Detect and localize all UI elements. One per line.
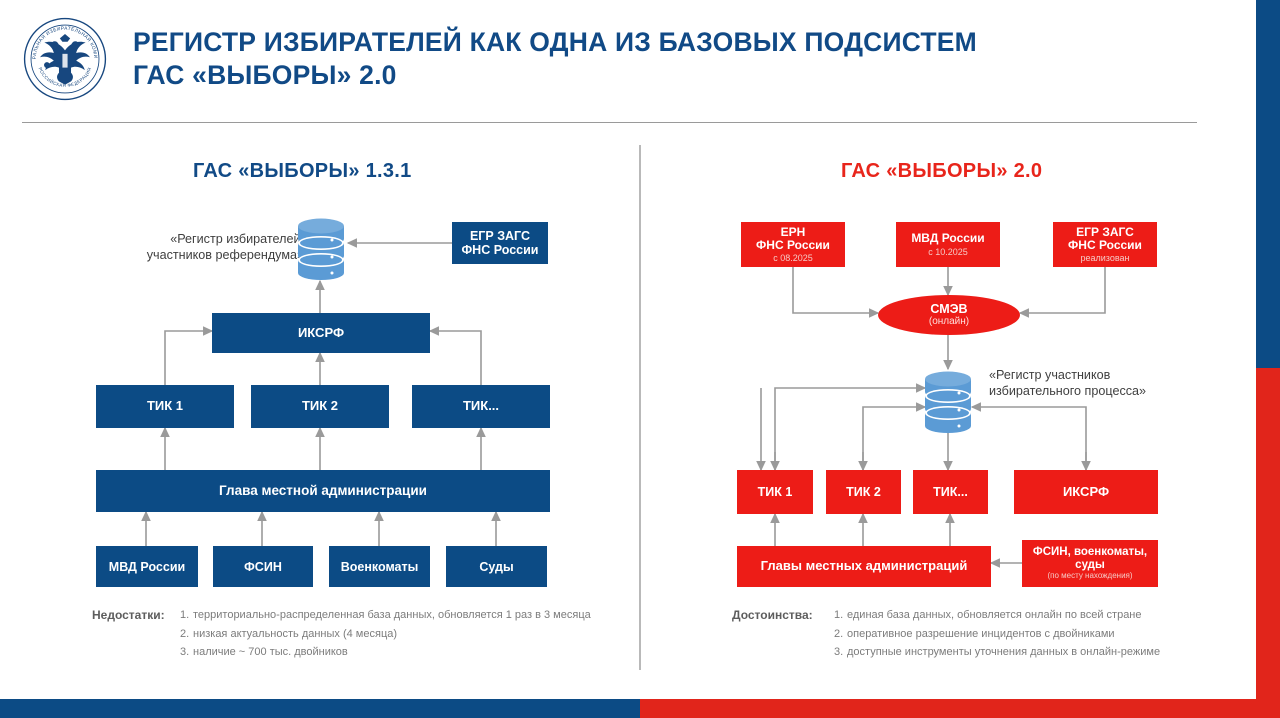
right-note-item: 1.единая база данных, обновляется онлайн… — [834, 606, 1202, 625]
left-node-tik1[interactable]: ТИК 1 — [96, 385, 234, 428]
header-divider — [22, 122, 1197, 123]
right-node-iksrf[interactable]: ИКСРФ — [1014, 470, 1158, 514]
right-panel-heading: ГАС «ВЫБОРЫ» 2.0 — [841, 160, 1042, 183]
left-node-head-of-local-administration[interactable]: Глава местной администрации — [96, 470, 550, 512]
left-register-label: «Регистр избирателей, участников референ… — [104, 231, 304, 263]
left-node-fsin[interactable]: ФСИН — [213, 546, 313, 587]
right-node-mvd[interactable]: МВД России с 10.2025 — [896, 222, 1000, 267]
right-node-egr-zags[interactable]: ЕГР ЗАГС ФНС России реализован — [1053, 222, 1157, 267]
left-panel-heading: ГАС «ВЫБОРЫ» 1.3.1 — [193, 160, 412, 183]
left-node-voenkomaty[interactable]: Военкоматы — [329, 546, 430, 587]
right-node-ern[interactable]: ЕРН ФНС России с 08.2025 — [741, 222, 845, 267]
center-divider — [639, 145, 641, 670]
left-database-cylinder — [298, 216, 344, 287]
right-database-cylinder — [925, 369, 971, 440]
right-edge-red-bar — [1256, 368, 1280, 718]
right-node-tik1[interactable]: ТИК 1 — [737, 470, 813, 514]
left-node-sudy[interactable]: Суды — [446, 546, 547, 587]
title-line-1: РЕГИСТР ИЗБИРАТЕЛЕЙ КАК ОДНА ИЗ БАЗОВЫХ … — [133, 26, 1193, 59]
right-node-heads-of-local-administrations[interactable]: Главы местных администраций — [737, 546, 991, 587]
left-node-iksrf[interactable]: ИКСРФ — [212, 313, 430, 353]
left-note-item: 3.наличие ~ 700 тыс. двойников — [180, 643, 632, 662]
right-edge-blue-bar — [1256, 0, 1280, 368]
right-node-tik-more[interactable]: ТИК... — [913, 470, 988, 514]
left-node-mvd[interactable]: МВД России — [96, 546, 198, 587]
right-note-item: 2.оперативное разрешение инцидентов с дв… — [834, 625, 1202, 644]
left-node-tik-more[interactable]: ТИК... — [412, 385, 550, 428]
bottom-blue-bar — [0, 699, 640, 718]
right-notes-heading: Достоинства: — [732, 606, 813, 625]
left-notes-heading: Недостатки: — [92, 606, 165, 625]
left-note-item: 2.низкая актуальность данных (4 месяца) — [180, 625, 632, 644]
right-note-item: 3.доступные инструменты уточнения данных… — [834, 643, 1202, 662]
right-node-fsin-voenkomaty-sudy[interactable]: ФСИН, военкоматы, суды (по месту нахожде… — [1022, 540, 1158, 587]
left-node-tik2[interactable]: ТИК 2 — [251, 385, 389, 428]
page-title: РЕГИСТР ИЗБИРАТЕЛЕЙ КАК ОДНА ИЗ БАЗОВЫХ … — [133, 26, 1193, 92]
right-register-label: «Регистр участников избирательного проце… — [989, 367, 1209, 399]
right-node-tik2[interactable]: ТИК 2 — [826, 470, 901, 514]
left-note-item: 1.территориально-распределенная база дан… — [180, 606, 632, 625]
left-notes: Недостатки: 1.территориально-распределен… — [92, 606, 632, 662]
right-node-smev[interactable]: СМЭВ (онлайн) — [878, 295, 1020, 335]
bottom-red-bar — [640, 699, 1280, 718]
right-notes: Достоинства: 1.единая база данных, обнов… — [732, 606, 1202, 662]
left-node-egr-zags[interactable]: ЕГР ЗАГС ФНС России — [452, 222, 548, 264]
title-line-2: ГАС «ВЫБОРЫ» 2.0 — [133, 59, 1193, 92]
slide-root: ЦЕНТРАЛЬНАЯ ИЗБИРАТЕЛЬНАЯ КОМИССИЯ РОССИ… — [0, 0, 1280, 718]
cec-emblem-logo: ЦЕНТРАЛЬНАЯ ИЗБИРАТЕЛЬНАЯ КОМИССИЯ РОССИ… — [22, 16, 108, 102]
